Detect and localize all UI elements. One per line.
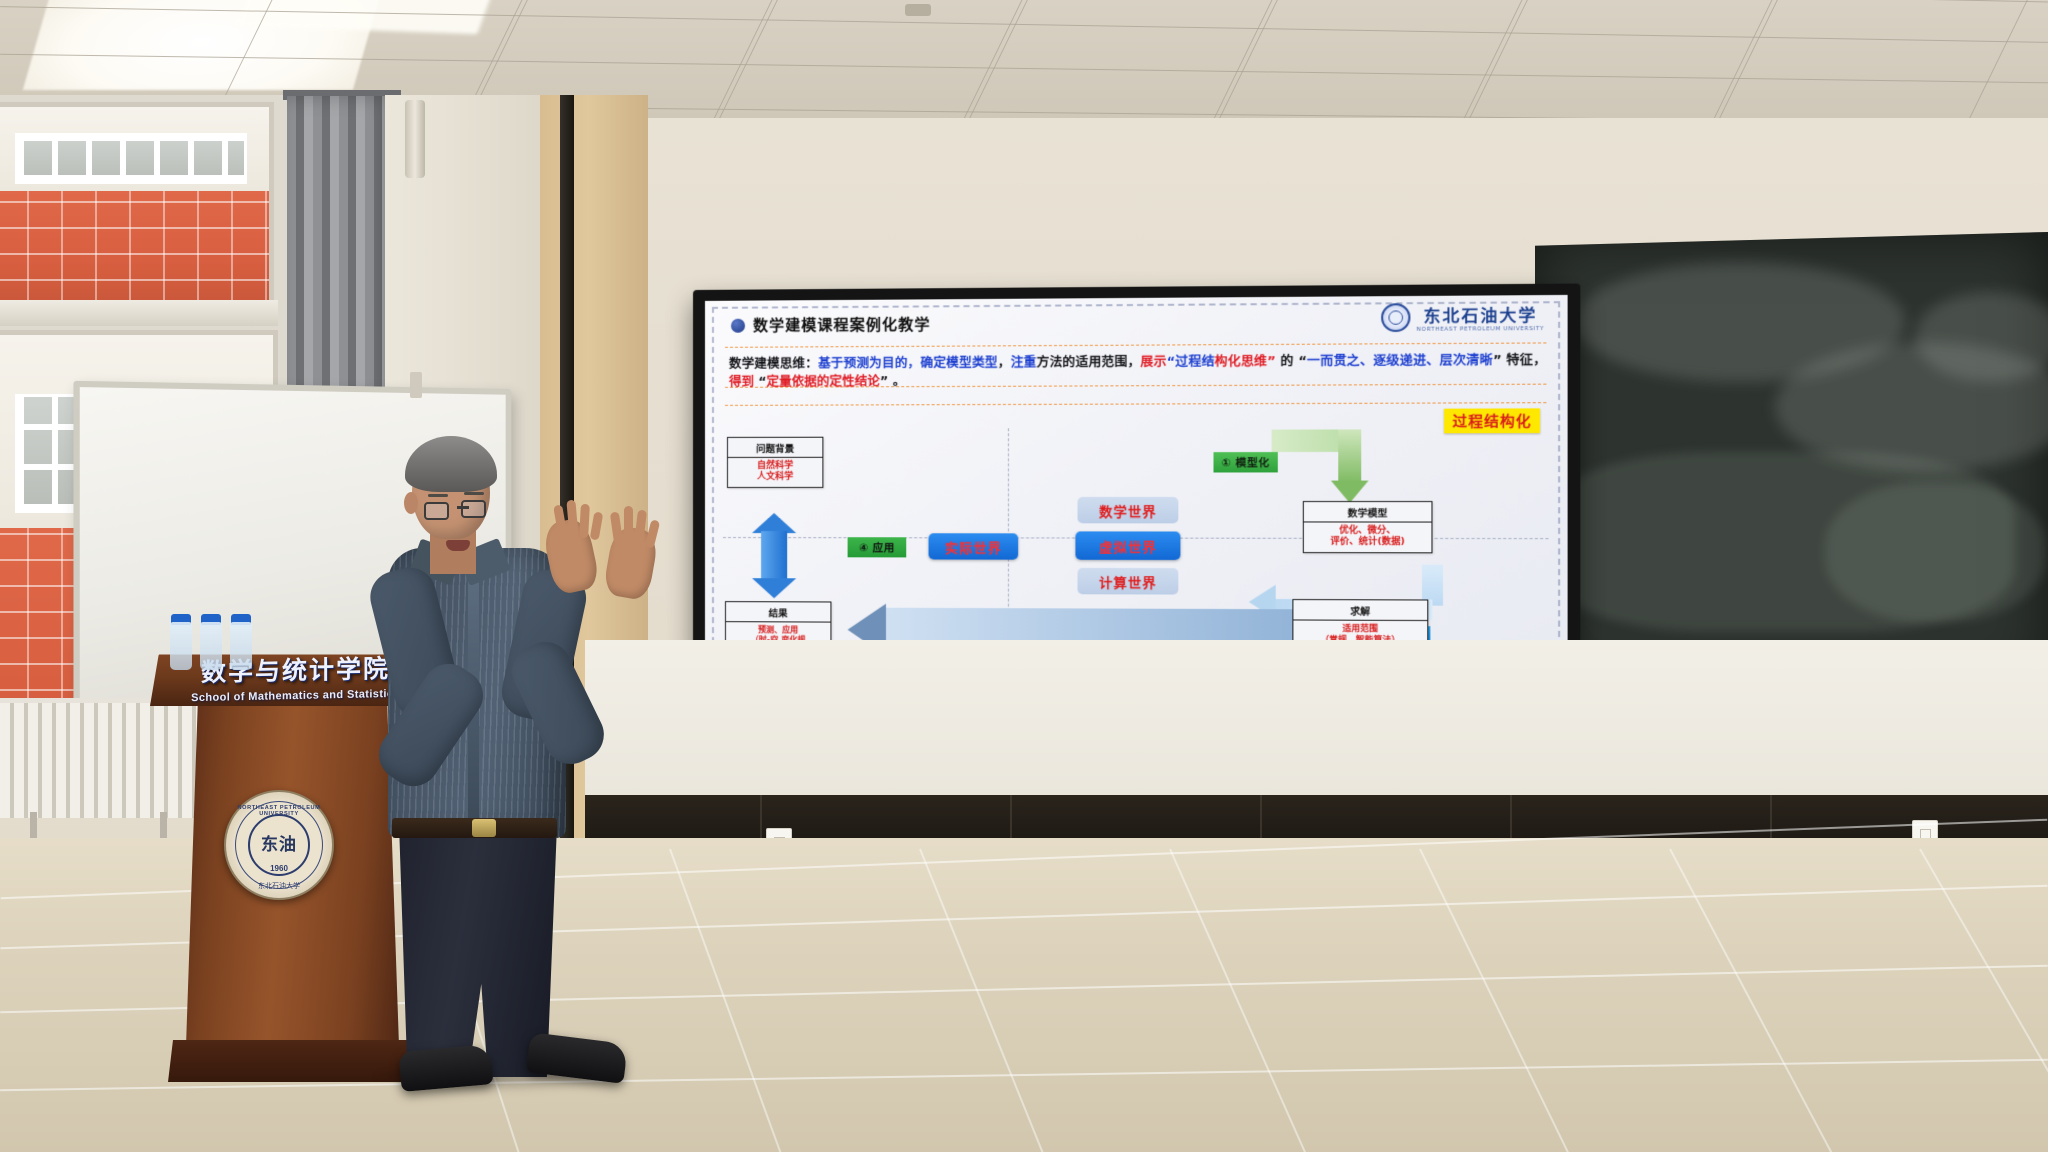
emblem-bottom-cn: 东北石油大学 <box>226 881 332 891</box>
arrow-down-head-icon <box>752 578 796 598</box>
box-problem-background: 问题背景 自然科学 人文科学 <box>727 437 823 488</box>
classroom-scene: 数学建模课程案例化教学 东北石油大学 NORTHEAST PETROLEUM U… <box>0 0 2048 1152</box>
presenter-glasses-right-lens <box>461 500 486 518</box>
tag-step4-application: ④ 应用 <box>848 537 907 557</box>
outside-building <box>0 107 269 199</box>
slide-title: 数学建模课程案例化教学 <box>753 313 931 335</box>
para-seg: 构化思维” <box>1215 353 1276 369</box>
box-math-model-body: 优化、微分、 评价、统计(数据) <box>1304 522 1432 551</box>
whiteboard-marker[interactable] <box>410 372 422 398</box>
arrow-green-vertical <box>1338 429 1361 482</box>
box-math-model: 数学模型 优化、微分、 评价、统计(数据) <box>1303 501 1433 553</box>
arrow-vertical-shaft <box>761 531 787 579</box>
pill-virtual-world: 虚拟世界 <box>1075 531 1180 560</box>
para-seg: 基于预测为目的，确定模型类型 <box>818 354 998 370</box>
university-seal-icon <box>1381 303 1410 332</box>
para-seg: 注重 <box>1011 354 1037 369</box>
radiator <box>0 698 200 818</box>
floor-tile-line-vertical <box>1919 849 2048 1152</box>
display-screen[interactable]: 数学建模课程案例化教学 东北石油大学 NORTHEAST PETROLEUM U… <box>705 295 1568 685</box>
outside-brick-wall <box>0 191 269 307</box>
box-problem-head: 问题背景 <box>728 438 822 458</box>
para-seg: ， <box>998 354 1011 369</box>
water-bottle[interactable] <box>170 622 192 670</box>
box-result-head: 结果 <box>726 602 830 622</box>
window-sill <box>0 300 278 326</box>
ceiling-tile <box>1711 0 2048 118</box>
floor-tile-line-vertical <box>919 849 1078 1152</box>
pill-compute-world: 计算世界 <box>1078 568 1179 595</box>
para-seg: 数学建模思维： <box>729 355 818 370</box>
highlight-banner: 过程结构化 <box>1444 408 1540 433</box>
para-seg: 得到 <box>729 373 754 388</box>
presenter-eyebrow-left <box>428 494 448 497</box>
pill-real-world: 实际世界 <box>929 533 1019 559</box>
outside-window-grid <box>15 133 247 185</box>
presenter-mouth <box>446 540 470 551</box>
university-logo: 东北石油大学 NORTHEAST PETROLEUM UNIVERSITY <box>1381 301 1544 333</box>
chalkboard-right <box>1535 232 2048 692</box>
podium-emblem: NORTHEAST PETROLEUM UNIVERSITY 东油 1960 东… <box>224 790 334 900</box>
arrow-green-head-icon <box>1331 481 1369 504</box>
wall-pipe <box>405 100 425 178</box>
slide-header: 数学建模课程案例化教学 <box>731 313 931 335</box>
university-name-en: NORTHEAST PETROLEUM UNIVERSITY <box>1417 326 1545 333</box>
slide-paragraph: 数学建模思维：基于预测为目的，确定模型类型，注重方法的适用范围，展示“过程结构化… <box>729 351 1546 391</box>
water-bottle[interactable] <box>230 622 252 670</box>
para-seg: “过程结 <box>1167 353 1215 368</box>
presenter-eyebrow-right <box>464 492 484 495</box>
university-name-cn: 东北石油大学 <box>1423 301 1537 326</box>
para-seg: ” 特征， <box>1493 352 1546 368</box>
emblem-year: 1960 <box>226 864 332 873</box>
presentation-slide: 数学建模课程案例化教学 东北石油大学 NORTHEAST PETROLEUM U… <box>705 295 1568 685</box>
presenter-shoe-left <box>398 1044 493 1092</box>
water-bottle[interactable] <box>200 622 222 670</box>
presenter-glasses-bridge <box>457 506 469 509</box>
box-math-model-head: 数学模型 <box>1304 502 1432 523</box>
lower-wall <box>585 640 2048 800</box>
bullet-dot-icon <box>731 318 745 332</box>
floor-tile-line-vertical <box>1419 849 1605 1152</box>
floor-tile-line-vertical <box>1169 849 1342 1152</box>
presenter-ear <box>404 492 418 514</box>
presenter-glasses-left-lens <box>424 502 449 520</box>
emblem-center-cn: 东油 <box>226 830 332 855</box>
para-seg: “ <box>754 373 767 388</box>
tag-step1-modeling: ① 模型化 <box>1213 452 1277 472</box>
para-seg: 一而贯之、逐级递进、层次清晰 <box>1307 352 1493 368</box>
para-seg: 定量依据的定性结论 <box>767 373 880 389</box>
box-solve-head: 求解 <box>1293 600 1427 621</box>
para-seg: 的 “ <box>1276 353 1307 368</box>
floor-tile-line-vertical <box>669 849 815 1152</box>
para-seg: 展示 <box>1141 354 1167 369</box>
window-upper <box>0 102 274 312</box>
para-seg: 方法的适用范围， <box>1037 354 1141 370</box>
pill-math-world: 数学世界 <box>1078 497 1179 523</box>
para-seg: ” 。 <box>880 373 905 388</box>
box-problem-body: 自然科学 人文科学 <box>728 458 822 487</box>
presenter-belt-buckle <box>472 819 496 837</box>
